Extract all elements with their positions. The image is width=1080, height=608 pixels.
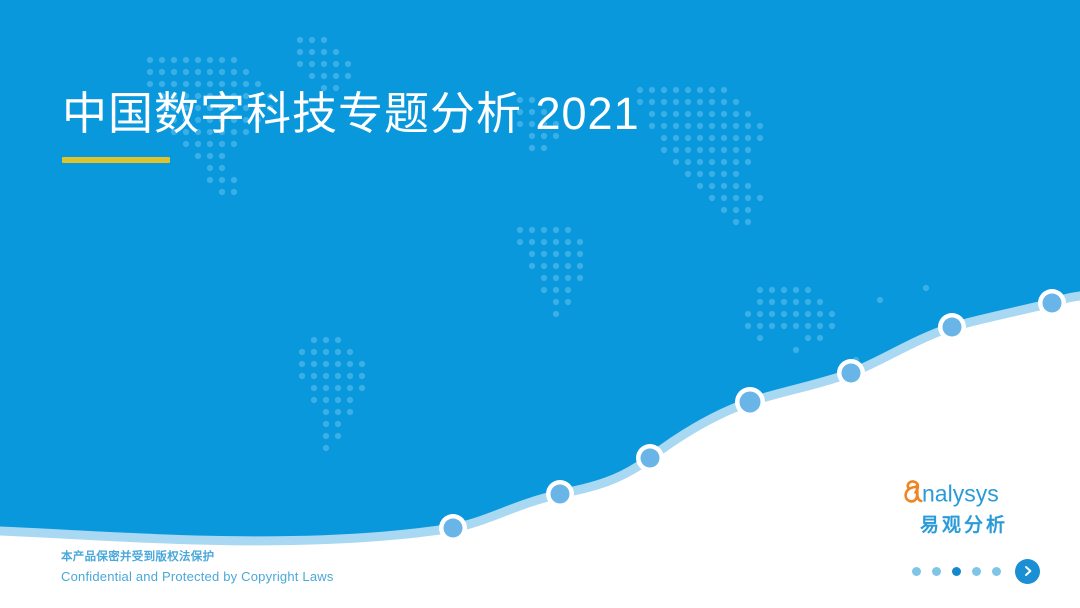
curve-marker bbox=[837, 359, 865, 387]
pager-dot-5[interactable] bbox=[992, 567, 1001, 576]
slide-pager[interactable] bbox=[912, 558, 1040, 584]
analysys-wordmark: nalysys bbox=[900, 478, 1028, 508]
curve-marker bbox=[735, 387, 765, 417]
logo-initial-a bbox=[906, 482, 922, 502]
page-title: 中国数字科技专题分析 2021 bbox=[62, 88, 640, 140]
analysys-logo: nalysys 易观分析 bbox=[900, 478, 1028, 537]
title-underline-rule bbox=[62, 157, 170, 163]
pager-dot-3[interactable] bbox=[952, 567, 961, 576]
curve-marker bbox=[546, 480, 574, 508]
curve-marker bbox=[1038, 289, 1066, 317]
pager-dot-2[interactable] bbox=[932, 567, 941, 576]
curve-marker bbox=[938, 313, 966, 341]
next-arrow-icon[interactable] bbox=[1015, 559, 1040, 584]
confidentiality-note: 本产品保密并受到版权法保护 Confidential and Protected… bbox=[61, 549, 334, 587]
pager-dot-4[interactable] bbox=[972, 567, 981, 576]
title-slide: 中国数字科技专题分析 2021 本产品保密并受到版权法保护 Confidenti… bbox=[0, 0, 1080, 608]
curve-marker bbox=[439, 514, 467, 542]
logo-chinese-name: 易观分析 bbox=[900, 510, 1028, 537]
title-block: 中国数字科技专题分析 2021 bbox=[62, 88, 640, 163]
confidentiality-note-en: Confidential and Protected by Copyright … bbox=[61, 567, 334, 587]
confidentiality-note-cn: 本产品保密并受到版权法保护 bbox=[61, 549, 334, 567]
curve-marker bbox=[636, 444, 664, 472]
logo-wordmark-text: nalysys bbox=[922, 481, 999, 507]
pager-dot-1[interactable] bbox=[912, 567, 921, 576]
